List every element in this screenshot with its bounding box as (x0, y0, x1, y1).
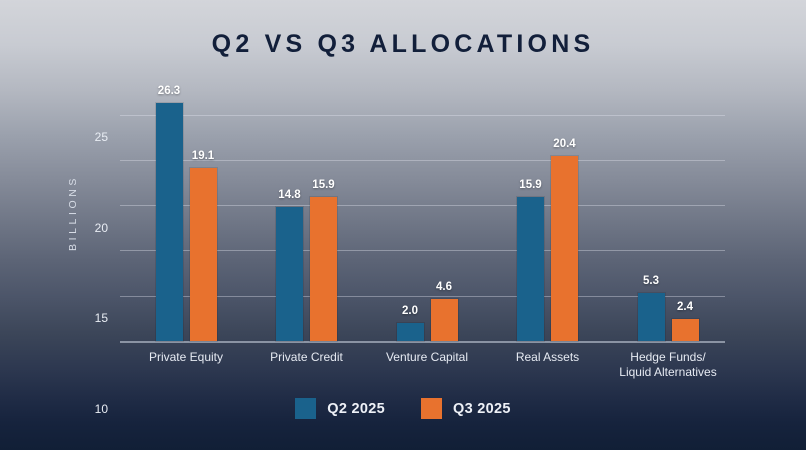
legend-label: Q3 2025 (453, 401, 511, 417)
bar-q3[interactable] (310, 197, 337, 341)
chart-title: Q2 VS Q3 ALLOCATIONS (0, 30, 806, 59)
bar-value-label: 2.4 (677, 301, 693, 313)
bar-q2[interactable] (156, 103, 183, 341)
bar-q2[interactable] (276, 207, 303, 341)
category-label: Private Equity (116, 350, 256, 365)
bar-q3[interactable] (551, 156, 578, 341)
bar-value-label: 2.0 (402, 305, 418, 317)
axis-baseline: 0 (120, 341, 725, 343)
bar-value-label: 19.1 (192, 150, 214, 162)
bar-value-label: 14.8 (278, 189, 300, 201)
y-axis-tick-label: 15 (95, 311, 108, 325)
legend-swatch-q3 (421, 398, 442, 419)
category-label: Private Credit (237, 350, 377, 365)
legend-label: Q2 2025 (327, 401, 385, 417)
bar-q2[interactable] (638, 293, 665, 341)
y-axis-title: BILLIONS (66, 150, 80, 276)
plot-area: 0510152025 26.319.114.815.92.04.615.920.… (120, 92, 725, 341)
gridline: 25 (120, 115, 725, 116)
bar-q3[interactable] (431, 299, 458, 341)
bar-value-label: 15.9 (312, 179, 334, 191)
legend-swatch-q2 (295, 398, 316, 419)
bar-value-label: 15.9 (519, 179, 541, 191)
legend-item-q2[interactable]: Q2 2025 (295, 398, 385, 419)
bar-q2[interactable] (517, 197, 544, 341)
category-label: Real Assets (478, 350, 618, 365)
bar-q2[interactable] (397, 323, 424, 341)
bar-value-label: 4.6 (436, 281, 452, 293)
bar-value-label: 5.3 (643, 275, 659, 287)
category-label: Venture Capital (357, 350, 497, 365)
y-axis-title-text: BILLIONS (67, 175, 79, 251)
legend-item-q3[interactable]: Q3 2025 (421, 398, 511, 419)
chart-legend: Q2 2025Q3 2025 (0, 398, 806, 419)
bar-value-label: 20.4 (553, 138, 575, 150)
y-axis-tick-label: 25 (95, 130, 108, 144)
bar-value-label: 26.3 (158, 85, 180, 97)
bar-chart-figure: Q2 VS Q3 ALLOCATIONS BILLIONS 0510152025… (0, 0, 806, 450)
category-label: Hedge Funds/ Liquid Alternatives (598, 350, 738, 380)
bar-q3[interactable] (672, 319, 699, 341)
y-axis-tick-label: 20 (95, 221, 108, 235)
bar-q3[interactable] (190, 168, 217, 341)
